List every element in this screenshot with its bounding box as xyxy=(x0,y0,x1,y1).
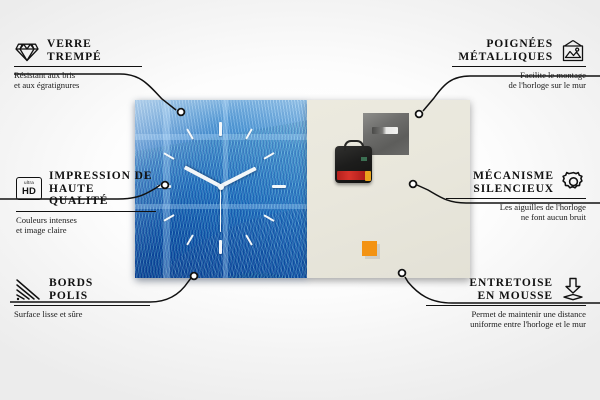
clock-center-cap xyxy=(218,184,224,190)
gear-icon xyxy=(561,170,586,195)
callout-divider xyxy=(452,66,586,67)
callout-subtitle-line2: uniforme entre l'horloge et le mur xyxy=(426,319,586,329)
ultra-hd-badge-icon: ultra HD xyxy=(16,177,42,200)
clock-front-panel xyxy=(135,100,307,278)
movement-hanging-loop xyxy=(344,140,364,151)
quartz-movement xyxy=(335,146,372,183)
callout-divider xyxy=(446,198,586,199)
wall-hanging-frame-icon xyxy=(560,39,586,63)
hanger-slot xyxy=(372,127,398,134)
callout-subtitle-line1: Couleurs intenses xyxy=(16,215,156,225)
callout-subtitle-line2: de l'horloge sur le mur xyxy=(452,80,586,90)
infographic-canvas: VERRE TREMPÉ Résistant aux bris et aux é… xyxy=(0,0,600,400)
callout-header: BORDS POLIS xyxy=(14,277,150,302)
callout-subtitle-line2: et image claire xyxy=(16,225,156,235)
foam-spacer-arrow-icon xyxy=(560,277,586,302)
callout-divider xyxy=(426,305,586,306)
callout-verre-trempe: VERRE TREMPÉ Résistant aux bris et aux é… xyxy=(14,38,142,90)
ultra-hd-badge-main: HD xyxy=(22,187,36,197)
callout-title: VERRE TREMPÉ xyxy=(47,38,102,63)
callout-header: ENTRETOISE EN MOUSSE xyxy=(426,277,586,302)
callout-title: ENTRETOISE EN MOUSSE xyxy=(426,277,553,302)
clock-tick xyxy=(272,185,286,188)
callout-header: ultra HD IMPRESSION DE HAUTE QUALITÉ xyxy=(16,170,156,208)
battery xyxy=(337,171,367,180)
diamond-icon xyxy=(14,40,40,62)
callout-title: IMPRESSION DE HAUTE QUALITÉ xyxy=(49,170,156,208)
callout-title: BORDS POLIS xyxy=(49,277,93,302)
callout-divider xyxy=(16,211,156,212)
clock-tick xyxy=(157,185,171,188)
callout-poignees-metalliques: POIGNÉES MÉTALLIQUES Facilite le montage… xyxy=(452,38,586,90)
callout-header: POIGNÉES MÉTALLIQUES xyxy=(452,38,586,63)
callout-header: MÉCANISME SILENCIEUX xyxy=(446,170,586,195)
polished-edge-icon xyxy=(14,278,42,302)
callout-title: MÉCANISME SILENCIEUX xyxy=(446,170,554,195)
callout-subtitle-line1: Résistant aux bris xyxy=(14,70,142,80)
battery-terminal xyxy=(365,171,371,181)
callout-divider xyxy=(14,66,142,67)
callout-subtitle-line1: Permet de maintenir une distance xyxy=(426,309,586,319)
callout-subtitle-line1: Les aiguilles de l'horloge xyxy=(446,202,586,212)
callout-header: VERRE TREMPÉ xyxy=(14,38,142,63)
callout-mecanisme-silencieux: MÉCANISME SILENCIEUX Les aiguilles de l'… xyxy=(446,170,586,222)
foam-spacer xyxy=(362,241,377,256)
clock-tick xyxy=(219,240,222,254)
callout-divider xyxy=(14,305,150,306)
product-image xyxy=(135,100,470,278)
callout-impression-haute-qualite: ultra HD IMPRESSION DE HAUTE QUALITÉ Cou… xyxy=(16,170,156,235)
callout-subtitle-line2: et aux égratignures xyxy=(14,80,142,90)
callout-title: POIGNÉES MÉTALLIQUES xyxy=(452,38,553,63)
callout-subtitle-line1: Surface lisse et sûre xyxy=(14,309,150,319)
callout-subtitle-line1: Facilite le montage xyxy=(452,70,586,80)
clock-tick xyxy=(219,122,222,136)
movement-chip xyxy=(361,157,367,161)
callout-subtitle-line2: ne font aucun bruit xyxy=(446,212,586,222)
callout-entretoise-en-mousse: ENTRETOISE EN MOUSSE Permet de maintenir… xyxy=(426,277,586,329)
callout-bords-polis: BORDS POLIS Surface lisse et sûre xyxy=(14,277,150,319)
